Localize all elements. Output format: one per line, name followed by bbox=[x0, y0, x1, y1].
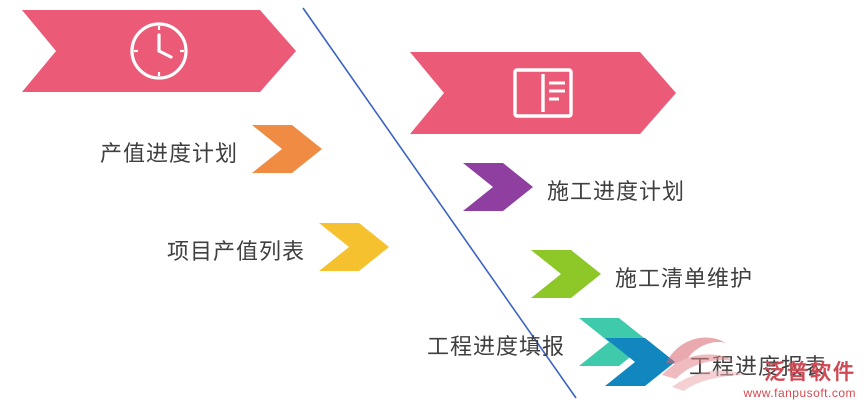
chevron-icon bbox=[605, 338, 675, 391]
item-row[interactable]: 施工清单维护 bbox=[531, 250, 753, 303]
watermark-text: 泛普软件 www.fanpusoft.com bbox=[743, 360, 856, 401]
book-banner[interactable] bbox=[410, 52, 676, 134]
watermark-brand: 泛普软件 bbox=[743, 360, 856, 386]
chevron-icon bbox=[319, 223, 389, 276]
item-row[interactable]: 产值进度计划 bbox=[100, 125, 322, 178]
chevron-icon bbox=[252, 125, 322, 178]
chevron-icon bbox=[531, 250, 601, 303]
item-row[interactable]: 施工进度计划 bbox=[463, 163, 685, 216]
item-label: 施工进度计划 bbox=[547, 174, 685, 206]
item-label: 产值进度计划 bbox=[100, 136, 238, 168]
chevron-icon bbox=[463, 163, 533, 216]
item-label: 项目产值列表 bbox=[167, 234, 305, 266]
diagram-canvas: 产值进度计划 施工进度计划 项目产值列表 施工清单维护 bbox=[0, 0, 864, 407]
item-label: 工程进度填报 bbox=[427, 329, 565, 361]
item-label: 施工清单维护 bbox=[615, 261, 753, 293]
watermark-url: www.fanpusoft.com bbox=[743, 386, 856, 401]
clock-icon bbox=[128, 20, 190, 82]
open-book-icon bbox=[510, 64, 576, 122]
clock-banner[interactable] bbox=[22, 10, 296, 92]
item-row[interactable]: 项目产值列表 bbox=[167, 223, 389, 276]
